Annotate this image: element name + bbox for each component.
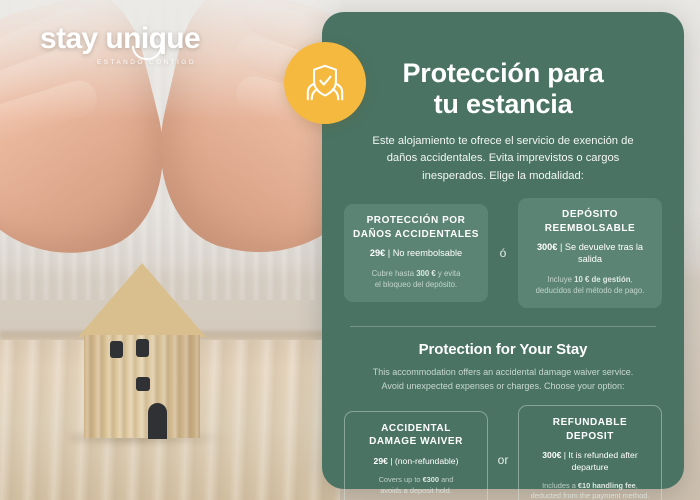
note-strong: €300 — [423, 475, 439, 484]
spanish-options-group: PROTECCIÓN POR DAÑOS ACCIDENTALES 29€ | … — [344, 198, 662, 308]
option-price-row: 300€ | Se devuelve tras la salida — [526, 242, 654, 266]
option-title: ACCIDENTAL DAMAGE WAIVER — [353, 422, 479, 449]
option-condition: It is refunded after departure — [568, 450, 637, 471]
note-pre: Includes a — [542, 481, 578, 490]
note-pre: Incluye — [547, 275, 574, 284]
option-note: Cubre hasta 300 € y evita el bloqueo del… — [352, 268, 480, 291]
option-note: Covers up to €300 and avoids a deposit h… — [353, 475, 479, 496]
option-price: 29€ — [374, 456, 388, 466]
spanish-intro-text: Este alojamiento te ofrece el servicio d… — [356, 133, 650, 185]
option-title-line-2: DEPOSIT — [566, 431, 614, 442]
option-price-row: 300€ | It is refunded after departure — [527, 450, 653, 472]
note-post: , — [636, 481, 638, 490]
page-title: Protección para tu estancia — [344, 58, 662, 119]
option-condition: Se devuelve tras la salida — [565, 242, 643, 264]
option-price-row: 29€ | (non-refundable) — [353, 456, 479, 467]
house-door — [148, 403, 167, 439]
note-strong: €10 handling fee — [578, 481, 636, 490]
option-card-proteccion-danos-accidentales[interactable]: PROTECCIÓN POR DAÑOS ACCIDENTALES 29€ | … — [344, 204, 488, 302]
note-post: y evita — [436, 269, 461, 278]
note-post: , — [631, 275, 633, 284]
note-post: and — [439, 475, 453, 484]
option-title-line-1: REFUNDABLE — [553, 417, 627, 428]
option-title-line-2: REEMBOLSABLE — [545, 223, 636, 234]
option-price: 300€ — [537, 242, 557, 252]
option-title-line-1: DEPÓSITO — [562, 209, 618, 220]
note-strong: 300 € — [416, 269, 436, 278]
logo-swoosh-icon — [132, 46, 162, 60]
price-divider: | — [388, 248, 390, 258]
option-title: REFUNDABLE DEPOSIT — [527, 416, 653, 443]
option-card-accidental-damage-waiver[interactable]: ACCIDENTAL DAMAGE WAIVER 29€ | (non-refu… — [344, 411, 488, 500]
option-title-line-2: DAMAGE WAIVER — [369, 436, 463, 447]
note-pre: Cubre hasta — [372, 269, 417, 278]
house-window — [136, 377, 150, 391]
title-line-1: Protección para — [402, 58, 603, 88]
title-line-2: tu estancia — [434, 89, 573, 119]
note-line-2: avoids a deposit hold. — [380, 486, 452, 495]
note-strong: 10 € de gestión — [574, 275, 630, 284]
english-section-title: Protection for Your Stay — [344, 341, 662, 358]
option-title: DEPÓSITO REEMBOLSABLE — [526, 208, 654, 235]
house-roof — [78, 263, 206, 337]
option-note: Includes a €10 handling fee, deducted fr… — [527, 481, 653, 500]
protection-panel: Protección para tu estancia Este alojami… — [322, 12, 684, 489]
option-price: 29€ — [370, 248, 385, 258]
spanish-options-separator: ó — [488, 246, 518, 260]
option-title-line-1: ACCIDENTAL — [381, 423, 451, 434]
option-price: 300€ — [542, 450, 561, 460]
option-price-row: 29€ | No reembolsable — [352, 248, 480, 260]
house-window — [110, 341, 123, 358]
note-line-2: el bloqueo del depósito. — [375, 280, 457, 289]
wooden-house-model — [78, 263, 206, 438]
price-divider: | — [560, 242, 562, 252]
note-line-2: deducidos del método de pago. — [536, 286, 645, 295]
option-title-line-2: DAÑOS ACCIDENTALES — [353, 229, 479, 240]
option-note: Incluye 10 € de gestión, deducidos del m… — [526, 274, 654, 297]
house-window — [136, 339, 149, 357]
note-line-2: deducted from the payment method. — [531, 491, 650, 500]
english-intro-text: This accommodation offers an accidental … — [370, 365, 636, 394]
option-title-line-1: PROTECCIÓN POR — [367, 215, 466, 226]
price-divider: | — [390, 456, 392, 466]
option-title: PROTECCIÓN POR DAÑOS ACCIDENTALES — [352, 214, 480, 241]
option-card-refundable-deposit[interactable]: REFUNDABLE DEPOSIT 300€ | It is refunded… — [518, 405, 662, 500]
brand-name: stay unique — [40, 24, 200, 54]
english-options-separator: or — [488, 453, 518, 467]
brand-tagline: ESTANDO CONTIGO — [40, 59, 200, 66]
english-options-group: ACCIDENTAL DAMAGE WAIVER 29€ | (non-refu… — [344, 405, 662, 500]
note-pre: Covers up to — [379, 475, 423, 484]
price-divider: | — [564, 450, 566, 460]
shield-check-in-hands-icon — [284, 42, 366, 124]
section-divider — [350, 326, 656, 327]
brand-logo: stay unique ESTANDO CONTIGO — [40, 24, 200, 66]
option-condition: No reembolsable — [393, 248, 462, 258]
option-condition: (non-refundable) — [395, 456, 459, 466]
option-card-deposito-reembolsable[interactable]: DEPÓSITO REEMBOLSABLE 300€ | Se devuelve… — [518, 198, 662, 308]
